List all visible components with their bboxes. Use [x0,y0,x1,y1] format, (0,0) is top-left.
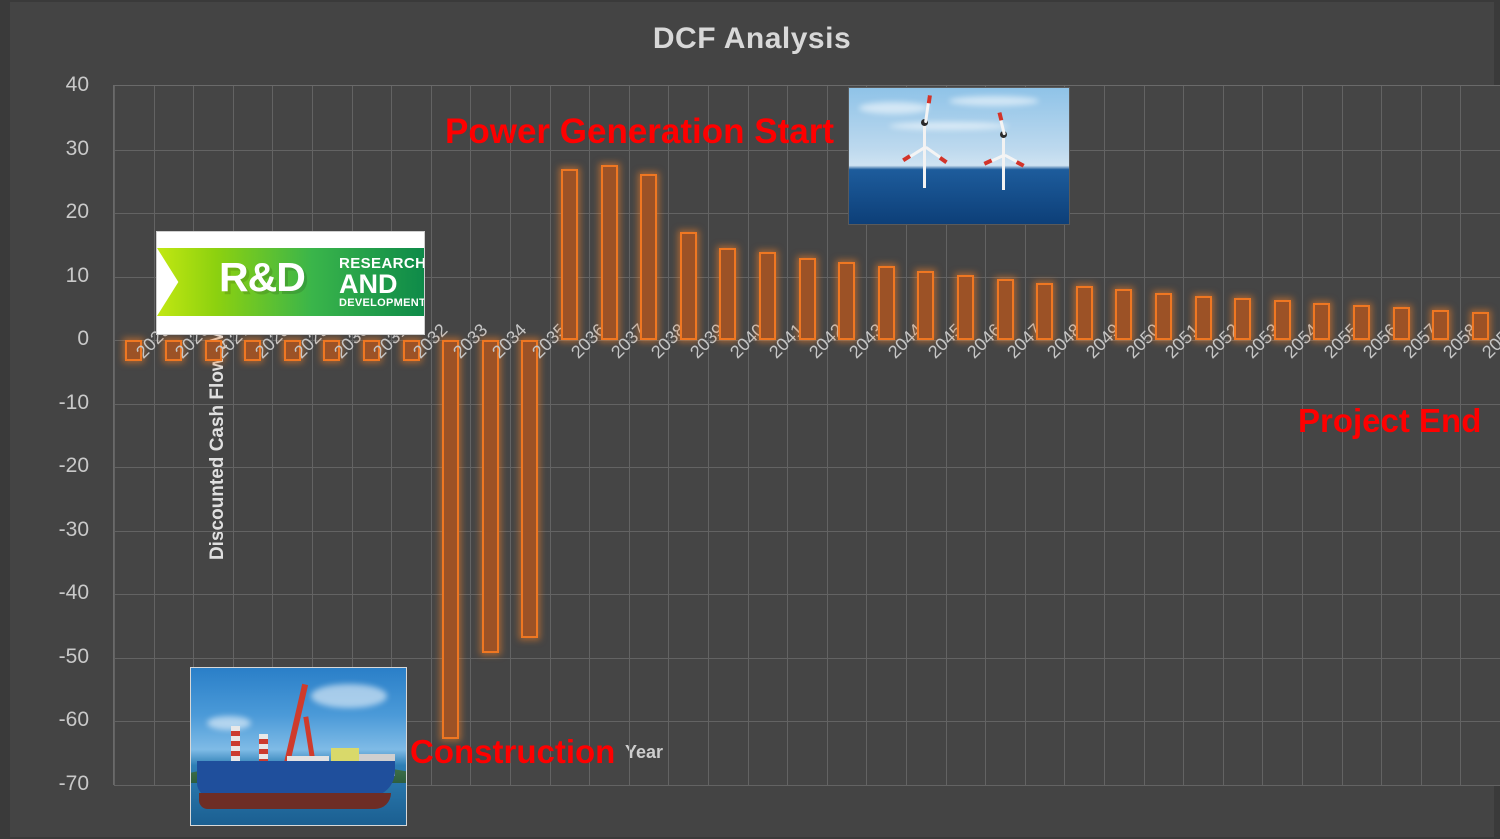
y-axis-tick-label: -30 [29,518,89,542]
bar[interactable] [1432,310,1449,341]
bar[interactable] [1036,283,1053,340]
gridline-vertical [431,86,432,785]
turbine-blade [1004,154,1025,167]
turbine-mast [923,122,926,188]
bar[interactable] [1472,312,1489,341]
cloud-shape [889,122,1009,130]
bar[interactable] [1115,289,1132,340]
chart-title: DCF Analysis [10,22,1494,56]
gridline-vertical [1223,86,1224,785]
gridline-vertical [114,86,115,785]
bar[interactable] [917,271,934,340]
bar[interactable] [799,258,816,341]
bar[interactable] [1274,300,1291,340]
bar[interactable] [1353,305,1370,340]
bar[interactable] [1313,303,1330,340]
bar[interactable] [759,252,776,340]
annotation-project-end: Project End [1298,402,1481,440]
bar[interactable] [1234,298,1251,341]
bar[interactable] [640,174,657,340]
bar[interactable] [997,279,1014,340]
gridline-vertical [668,86,669,785]
gridline-vertical [827,86,828,785]
gridline-horizontal [114,658,1500,659]
bar[interactable] [1393,307,1410,340]
y-axis-tick-label: -70 [29,772,89,796]
bar[interactable] [719,248,736,340]
bar[interactable] [957,275,974,340]
gridline-horizontal [114,213,1500,214]
offshore-wind-turbines-image [848,87,1070,225]
gridline-horizontal [114,594,1500,595]
turbine-blade [924,95,931,123]
bar[interactable] [1195,296,1212,340]
rnd-logo-image: R&D RESEARCH AND DEVELOPMENT [156,231,425,335]
bar[interactable] [1076,286,1093,340]
gridline-vertical [154,86,155,785]
y-axis-tick-label: -10 [29,391,89,415]
gridline-vertical [787,86,788,785]
cloud-shape [311,684,387,708]
rnd-logo-line2: AND [339,271,425,298]
gridline-vertical [470,86,471,785]
turbine-blade [925,146,948,163]
gridline-vertical [1104,86,1105,785]
annotation-construction: Construction [410,733,615,771]
y-axis-tick-label: -20 [29,454,89,478]
ship-hull [197,761,395,797]
cloud-shape [207,716,251,730]
gridline-vertical [589,86,590,785]
gridline-vertical [748,86,749,785]
rnd-logo-text: R&D [219,254,305,301]
cloud-shape [949,96,1039,106]
gridline-horizontal [114,531,1500,532]
rnd-logo-subtext: RESEARCH AND DEVELOPMENT [339,256,425,309]
y-axis-tick-label: 20 [29,200,89,224]
bar[interactable] [561,169,578,340]
ship-hull-underside [199,793,391,809]
bar[interactable] [838,262,855,340]
gridline-vertical [1183,86,1184,785]
cloud-shape [859,102,929,114]
gridline-vertical [629,86,630,785]
gridline-vertical [1262,86,1263,785]
bar[interactable] [1155,293,1172,341]
gridline-horizontal [114,404,1500,405]
annotation-power-generation-start: Power Generation Start [445,112,834,152]
y-axis-tick-label: -60 [29,708,89,732]
construction-vessel-image [190,667,407,826]
y-axis-tick-label: 10 [29,264,89,288]
chart-canvas: DCF Analysis Discounted Cash Flow (M$) Y… [0,0,1500,839]
gridline-vertical [550,86,551,785]
y-axis-tick-label: -40 [29,581,89,605]
turbine-mast [1002,134,1005,190]
gridline-vertical [510,86,511,785]
bar[interactable] [482,340,499,653]
y-axis-tick-label: -50 [29,645,89,669]
gridline-vertical [708,86,709,785]
bar[interactable] [601,165,618,340]
y-axis-tick-label: 0 [29,327,89,351]
bar[interactable] [521,340,538,637]
gridline-horizontal [114,467,1500,468]
bar[interactable] [878,266,895,340]
bar[interactable] [680,232,697,341]
gridline-vertical [1144,86,1145,785]
y-axis-tick-label: 30 [29,137,89,161]
rnd-logo-line3: DEVELOPMENT [339,298,425,309]
y-axis-tick-label: 40 [29,73,89,97]
bar[interactable] [442,340,459,739]
